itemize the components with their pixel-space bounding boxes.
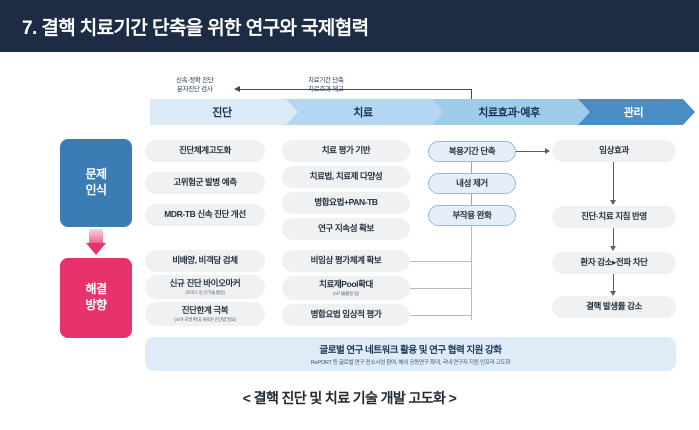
pill-treatment-solution-3[interactable]: 병합요법 임상적 평가: [282, 304, 410, 326]
pill-label: 환자 감소▸전파 차단: [580, 258, 647, 268]
annotation-treatment-line1: 치료기간 단축: [308, 76, 344, 85]
pill-management-1[interactable]: 임상효과: [552, 140, 676, 162]
stage-solution-line1: 해결: [85, 282, 106, 298]
pill-label: 병합요법 임상적 평가: [311, 310, 382, 320]
pill-label: 병합요법+PAN-TB: [314, 198, 377, 208]
process-bar: 진단 치료 치료효과·예후 관리: [150, 99, 695, 125]
pill-diagnosis-solution-2[interactable]: 신규 진단 바이오마커 (오믹스 등 신기술 활용): [145, 275, 265, 299]
connector-treatment-2: [410, 288, 472, 289]
pill-label: 결핵 발생률 감소: [586, 302, 642, 312]
connector-treatment-1: [410, 261, 472, 262]
pill-label: 비배양, 비객담 검체: [172, 256, 237, 266]
connector-management-2: [613, 228, 614, 248]
pill-treatment-solution-1[interactable]: 비임상 평가체계 확보: [282, 250, 410, 272]
pill-diagnosis-problem-3[interactable]: MDR-TB 신속 진단 개선: [145, 204, 265, 226]
pill-effect-2[interactable]: 내성 제거: [428, 173, 516, 194]
pill-label: 진단체계고도화: [179, 146, 231, 156]
pill-label: 치료 평가 기반: [322, 146, 370, 156]
pill-diagnosis-problem-1[interactable]: 진단체계고도화: [145, 140, 265, 162]
pill-treatment-problem-3[interactable]: 병합요법+PAN-TB: [282, 192, 410, 214]
title-divider: [0, 52, 699, 55]
pill-sublabel: (소아·호발 확대, 새로운 진단법 필요): [174, 317, 235, 323]
annotation-diagnosis-line2: 분자진단 검사: [176, 85, 213, 94]
pill-sublabel: (오믹스 등 신기술 활용): [185, 290, 224, 296]
pill-label: 고위험군 발병 예측: [173, 178, 236, 188]
process-step-treatment-label: 치료: [353, 104, 378, 120]
arrow-right-icon: [545, 148, 550, 154]
process-step-diagnosis-label: 진단: [212, 104, 237, 120]
process-step-diagnosis[interactable]: 진단: [150, 99, 300, 125]
pill-treatment-problem-4[interactable]: 연구 지속성 확보: [282, 218, 410, 240]
down-arrow-icon: [86, 229, 106, 255]
banner-title: 글로벌 연구 네트워크 활용 및 연구 협력 지원 강화: [320, 342, 502, 356]
process-step-management-label: 관리: [624, 104, 649, 120]
pill-effect-1[interactable]: 복용기간 단축: [428, 141, 516, 162]
annotation-treatment: 치료기간 단축 치료효과 제고: [308, 76, 344, 95]
pill-management-2[interactable]: 진단·치료 지침 반영: [552, 206, 676, 228]
global-network-banner[interactable]: 글로벌 연구 네트워크 활용 및 연구 협력 지원 강화 RePORT 등 글로…: [145, 337, 676, 371]
process-step-effect[interactable]: 치료효과·예후: [432, 99, 592, 125]
connector-treatment-3: [410, 315, 472, 316]
pill-label: 신규 진단 바이오마커: [170, 279, 241, 289]
connector-management-1: [613, 162, 614, 202]
stage-solution-box: 해결 방향: [60, 258, 132, 338]
pill-label: 치료제Pool확대: [319, 280, 373, 290]
connector-effect-to-management: [516, 151, 546, 152]
annotation-diagnosis-line1: 신속·정확 진단: [176, 76, 213, 85]
title-bar: 7. 결핵 치료기간 단축을 위한 연구와 국제협력: [0, 0, 699, 52]
pill-label: 진단·치료 지침 반영: [581, 212, 647, 222]
pill-diagnosis-solution-1[interactable]: 비배양, 비객담 검체: [145, 250, 265, 272]
annotation-arrow-icon: [234, 86, 240, 92]
arrow-down-icon-2: [610, 246, 616, 251]
page-title: 7. 결핵 치료기간 단축을 위한 연구와 국제협력: [0, 13, 369, 40]
stage-solution-line2: 방향: [85, 298, 106, 314]
pill-treatment-problem-2[interactable]: 치료법, 치료제 다양성: [282, 166, 410, 188]
banner-subtitle: RePORT 등 글로벌 연구 컨소시엄 참여, 해외 공동연구 확대, 국내 …: [311, 358, 510, 366]
pill-label: 부작용 완화: [452, 211, 491, 221]
pill-diagnosis-problem-2[interactable]: 고위험군 발병 예측: [145, 172, 265, 194]
process-step-management[interactable]: 관리: [578, 99, 695, 125]
pill-management-3[interactable]: 환자 감소▸전파 차단: [552, 252, 676, 274]
pill-label: 내성 제거: [456, 179, 488, 189]
slide-canvas: 7. 결핵 치료기간 단축을 위한 연구와 국제협력 신속·정확 진단 분자진단…: [0, 0, 699, 430]
annotation-connector-line: [240, 89, 472, 90]
process-step-treatment[interactable]: 치료: [286, 99, 446, 125]
pill-treatment-problem-1[interactable]: 치료 평가 기반: [282, 140, 410, 162]
arrow-down-icon-1: [610, 200, 616, 205]
pill-label: 연구 지속성 확보: [318, 224, 374, 234]
process-step-effect-label: 치료효과·예후: [478, 104, 546, 120]
pill-label: MDR-TB 신속 진단 개선: [164, 210, 246, 220]
annotation-diagnosis: 신속·정확 진단 분자진단 검사: [176, 76, 213, 95]
stage-problem-line1: 문제: [85, 167, 106, 183]
annotation-treatment-line2: 치료효과 제고: [308, 85, 344, 94]
stage-problem-box: 문제 인식: [60, 139, 132, 227]
stage-problem-line2: 인식: [85, 183, 106, 199]
pill-label: 복용기간 단축: [449, 147, 495, 157]
pill-management-4[interactable]: 결핵 발생률 감소: [552, 296, 676, 318]
pill-label: 진단한계 극복: [182, 306, 228, 316]
pill-label: 치료법, 치료제 다양성: [310, 172, 383, 182]
pill-sublabel: (AI기술활용 등): [333, 291, 359, 297]
pill-effect-3[interactable]: 부작용 완화: [428, 205, 516, 226]
pill-label: 비임상 평가체계 확보: [311, 256, 382, 266]
pill-diagnosis-solution-3[interactable]: 진단한계 극복 (소아·호발 확대, 새로운 진단법 필요): [145, 302, 265, 326]
pill-label: 임상효과: [599, 146, 629, 156]
pill-treatment-solution-2[interactable]: 치료제Pool확대 (AI기술활용 등): [282, 276, 410, 300]
slide-caption: < 결핵 진단 및 치료 기술 개발 고도화 >: [0, 388, 699, 408]
